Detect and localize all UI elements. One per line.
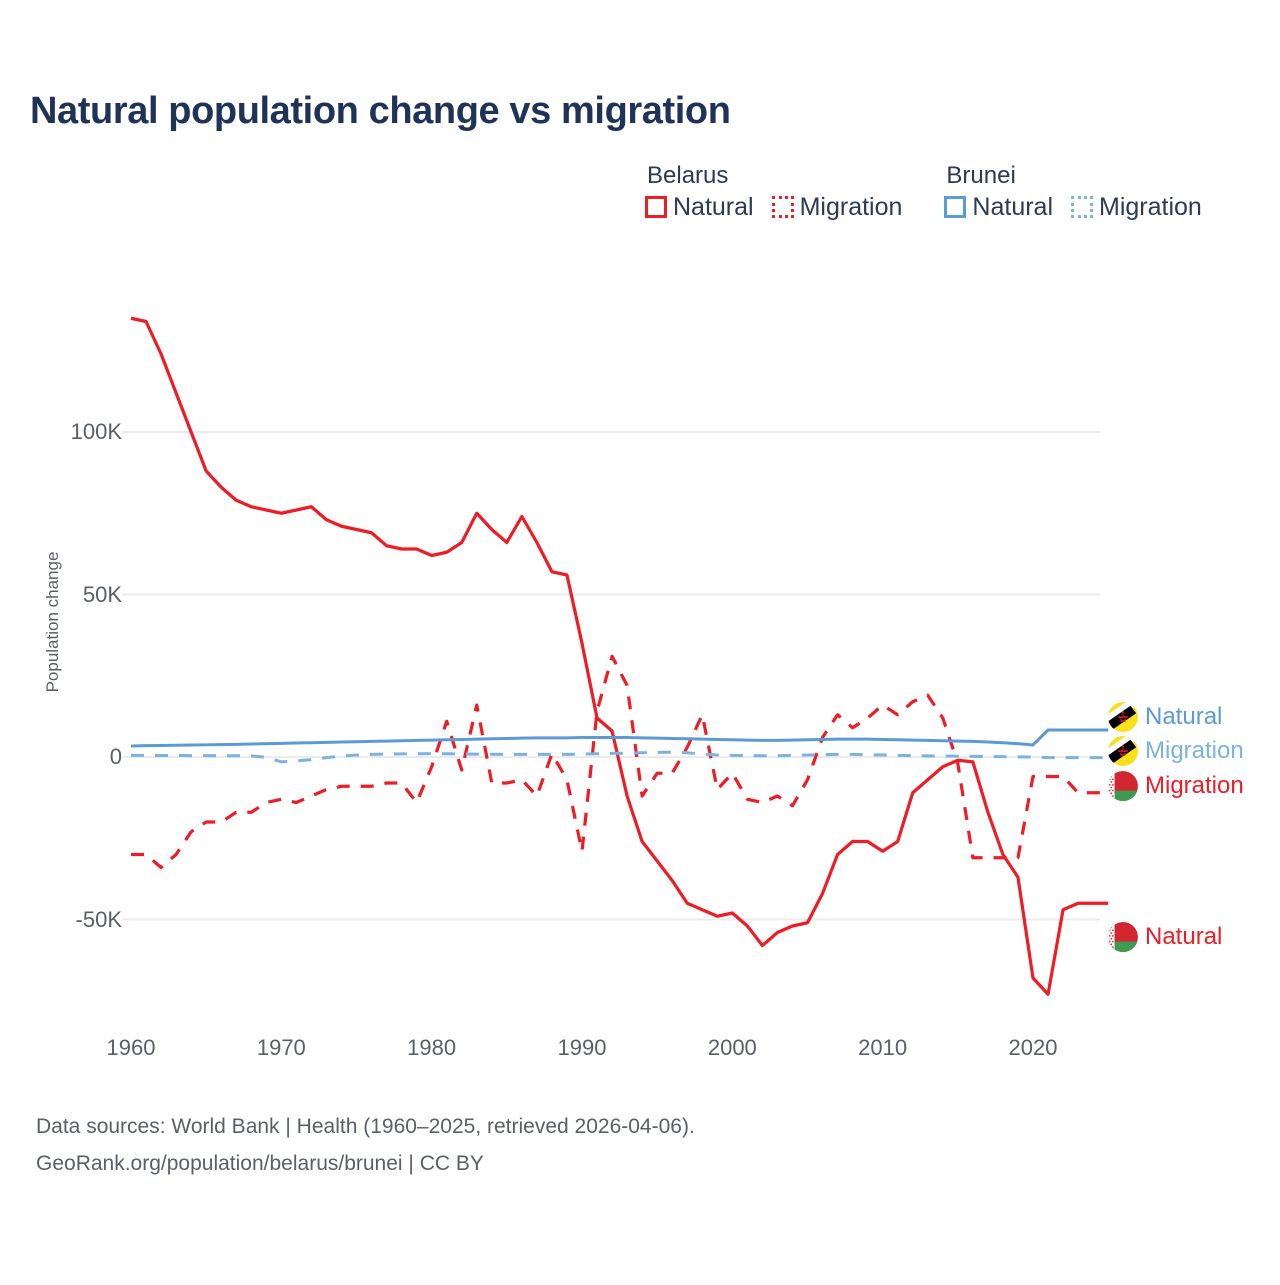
y-axis-tick-label: 50K: [83, 582, 122, 608]
legend-country-brunei: Brunei: [944, 162, 1201, 190]
legend-item-brunei-migration[interactable]: Migration: [1071, 194, 1202, 220]
brunei-flag-icon: [1108, 702, 1138, 732]
series-end-label: Natural: [1108, 702, 1222, 732]
series-end-label-text: Migration: [1145, 738, 1244, 764]
series-end-label-text: Natural: [1145, 704, 1222, 730]
legend-item-belarus-natural[interactable]: Natural: [645, 194, 754, 220]
series-end-label-text: Migration: [1145, 773, 1244, 799]
x-axis-tick-label: 2020: [1009, 1035, 1058, 1061]
legend-label-belarus-migration: Migration: [800, 194, 903, 220]
legend-item-brunei-natural[interactable]: Natural: [944, 194, 1053, 220]
legend-swatch-solid-icon: [645, 196, 667, 218]
legend-row-belarus: Natural Migration: [645, 194, 902, 220]
page-title: Natural population change vs migration: [30, 90, 731, 133]
footer-attribution: GeoRank.org/population/belarus/brunei | …: [36, 1145, 695, 1182]
series-end-label: Migration: [1108, 771, 1244, 801]
legend-swatch-dotted-icon: [772, 196, 794, 218]
chart-legend: Belarus Natural Migration Brunei Natural: [645, 162, 1202, 220]
x-axis-tick-label: 2010: [858, 1035, 907, 1061]
series-end-label: Natural: [1108, 922, 1222, 952]
x-axis-tick-label: 1960: [107, 1035, 156, 1061]
belarus-flag-icon: [1108, 771, 1138, 801]
legend-label-brunei-migration: Migration: [1099, 194, 1202, 220]
legend-group-belarus: Belarus Natural Migration: [645, 162, 902, 220]
y-axis-title: Population change: [43, 522, 63, 722]
y-axis-tick-label: 0: [110, 744, 122, 770]
chart-page: Natural population change vs migration B…: [0, 0, 1280, 1280]
x-axis-tick-label: 1970: [257, 1035, 306, 1061]
footer-data-sources: Data sources: World Bank | Health (1960–…: [36, 1108, 695, 1145]
legend-row-brunei: Natural Migration: [944, 194, 1201, 220]
y-axis-tick-label: -50K: [76, 907, 122, 933]
legend-country-belarus: Belarus: [645, 162, 902, 190]
legend-group-brunei: Brunei Natural Migration: [944, 162, 1201, 220]
belarus-flag-icon: [1108, 922, 1138, 952]
y-axis-tick-label: 100K: [71, 419, 122, 445]
x-axis-tick-label: 1990: [558, 1035, 607, 1061]
legend-swatch-solid-icon: [944, 196, 966, 218]
legend-item-belarus-migration[interactable]: Migration: [772, 194, 903, 220]
series-end-label-text: Natural: [1145, 924, 1222, 950]
x-axis-tick-label: 2000: [708, 1035, 757, 1061]
legend-swatch-dotted-icon: [1071, 196, 1093, 218]
x-axis-tick-label: 1980: [407, 1035, 456, 1061]
series-end-label: Migration: [1108, 736, 1244, 766]
legend-label-brunei-natural: Natural: [972, 194, 1053, 220]
legend-label-belarus-natural: Natural: [673, 194, 754, 220]
chart-footer: Data sources: World Bank | Health (1960–…: [36, 1108, 695, 1182]
brunei-flag-icon: [1108, 736, 1138, 766]
